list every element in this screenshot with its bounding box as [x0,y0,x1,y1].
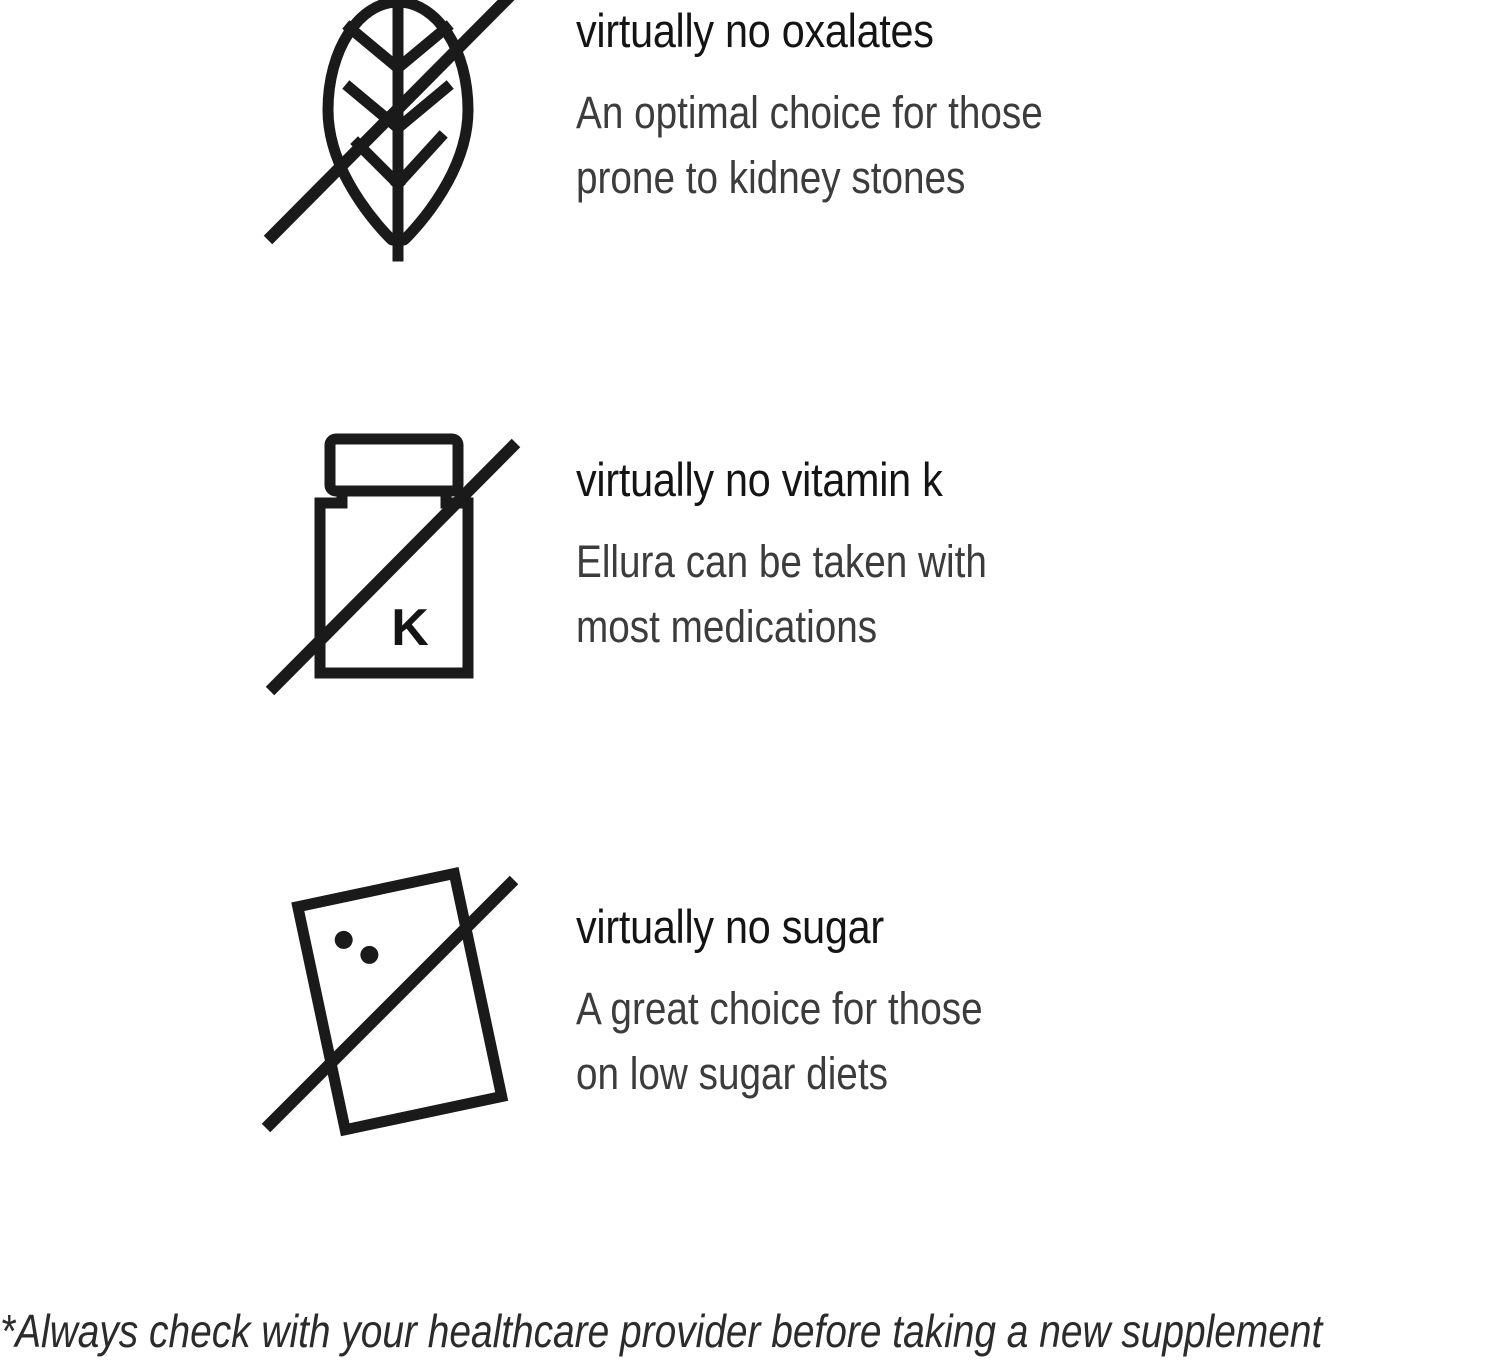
feature-text-vitamin-k: virtually no vitamin k Ellura can be tak… [576,423,1336,659]
no-sugar-packet-icon [258,858,528,1148]
no-leaf-icon [258,0,528,278]
feature-body-line: Ellura can be taken with [576,536,987,587]
no-vitamin-k-bottle-icon: K [258,423,528,713]
feature-heading: virtually no sugar [576,902,1245,951]
feature-body-line: most medications [576,601,877,652]
feature-body: A great choice for thoseon low sugar die… [576,977,1230,1106]
feature-text-sugar: virtually no sugar A great choice for th… [576,858,1336,1106]
feature-heading: virtually no oxalates [576,6,1245,55]
feature-body-line: on low sugar diets [576,1048,888,1099]
feature-body: Ellura can be taken withmost medications [576,530,1230,659]
feature-body: An optimal choice for thoseprone to kidn… [576,81,1230,210]
feature-row-oxalates: virtually no oxalates An optimal choice … [0,0,1500,278]
feature-text-oxalates: virtually no oxalates An optimal choice … [576,0,1336,210]
vitamin-k-letter: K [391,599,429,657]
disclaimer-note: *Always check with your healthcare provi… [0,1306,1268,1357]
feature-body-line: prone to kidney stones [576,152,965,203]
feature-row-sugar: virtually no sugar A great choice for th… [0,858,1500,1148]
feature-body-line: An optimal choice for those [576,87,1043,138]
feature-body-line: A great choice for those [576,983,983,1034]
feature-list: virtually no oxalates An optimal choice … [0,0,1500,1280]
feature-row-vitamin-k: K virtually no vitamin k Ellura can be t… [0,423,1500,713]
feature-heading: virtually no vitamin k [576,455,1245,504]
